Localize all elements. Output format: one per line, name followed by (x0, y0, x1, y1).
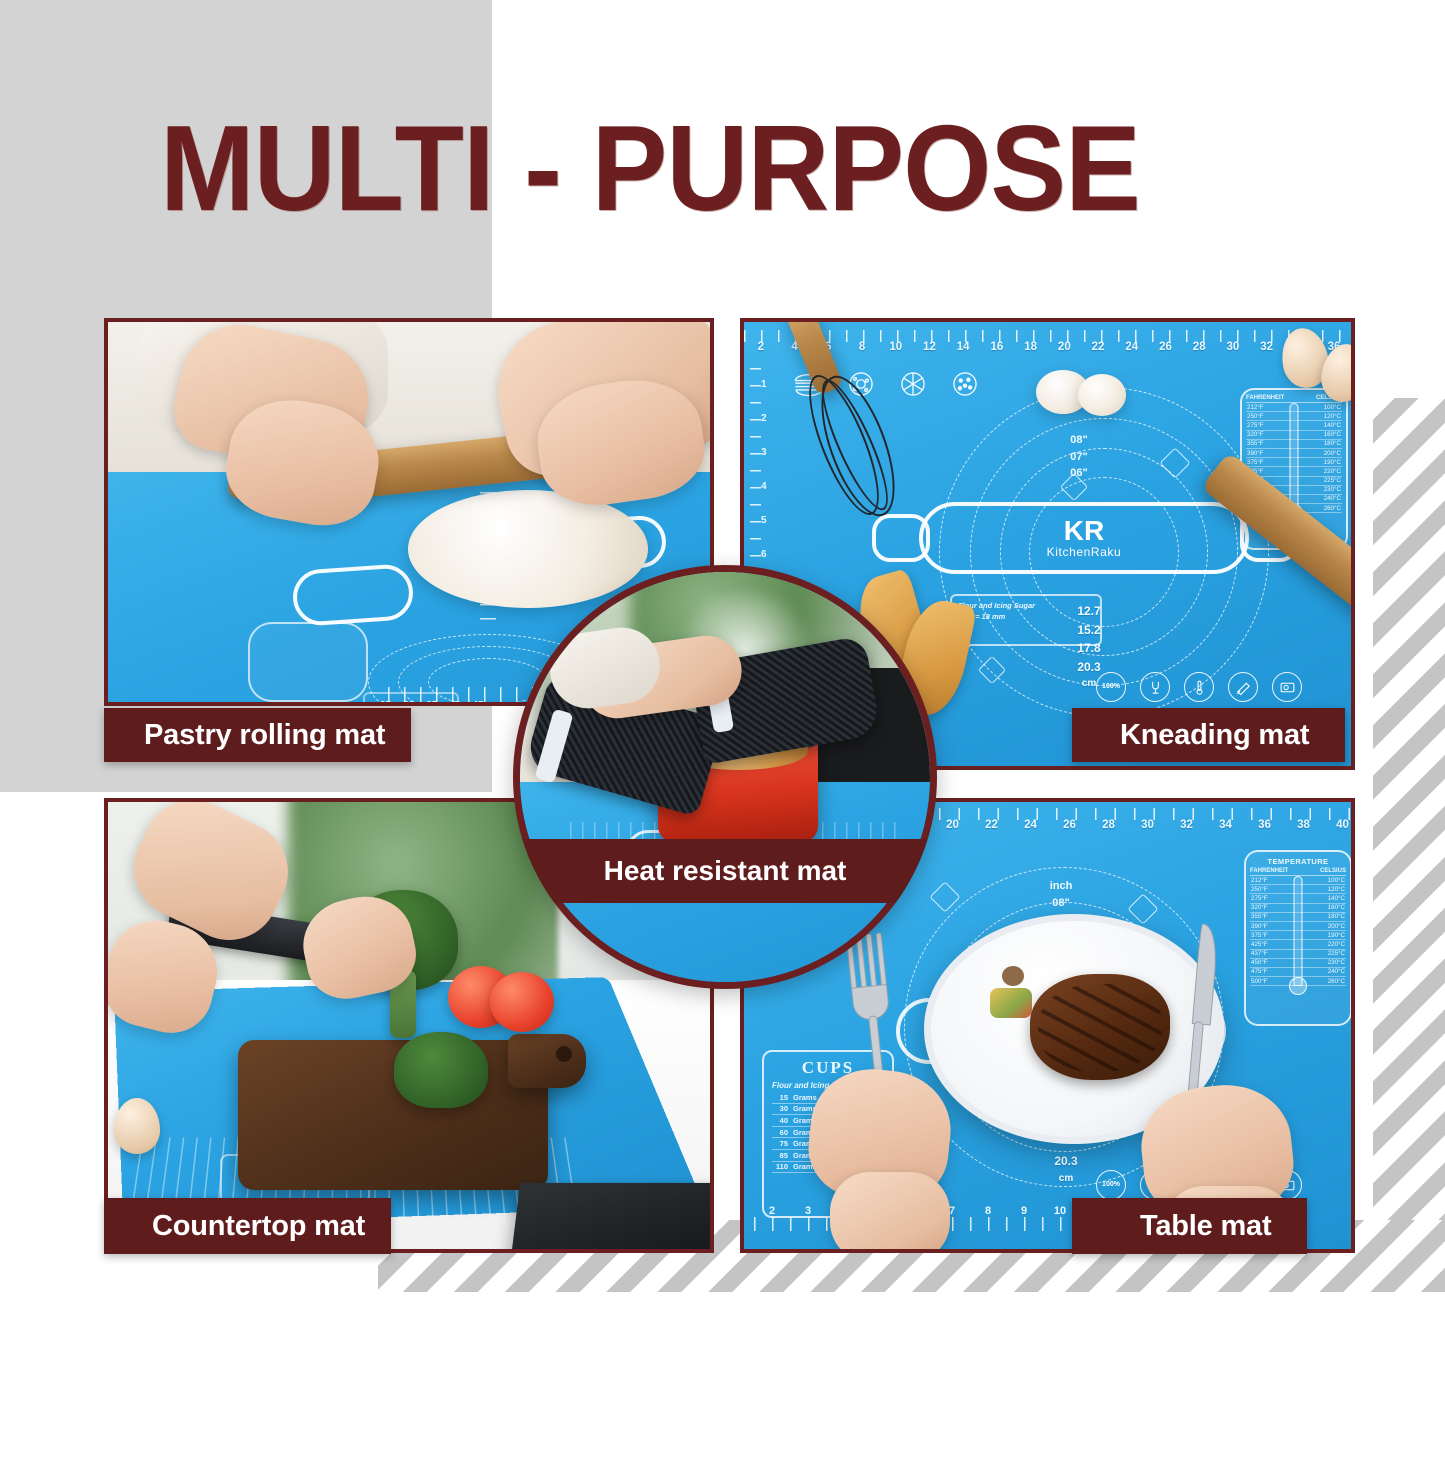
badge-dishwasher-safe-icon (1140, 672, 1170, 702)
mat-rollingpin-knob-left (872, 514, 930, 562)
label-text: Countertop mat (152, 1210, 365, 1243)
egg-countertop (114, 1098, 160, 1154)
temp-col-celsius: CELSIUS (1320, 868, 1346, 874)
arm-left-br (830, 1172, 950, 1253)
badge-100-percent-silicone-icon: 100% (1096, 1170, 1126, 1200)
ruler-numbers-table: 18 20 22 24 26 28 30 32 34 36 38 40 (894, 819, 1355, 831)
label-kneading-mat: Kneading mat (1072, 708, 1345, 762)
badge-knife-safe-icon (1228, 672, 1258, 702)
plate-garnish (990, 988, 1032, 1018)
label-countertop-mat: Countertop mat (104, 1198, 391, 1254)
temp-table-body: 212°F100°C 250°F120°C 275°F140°C 320°F16… (1250, 876, 1346, 986)
badge-heat-resistant-icon (1184, 672, 1214, 702)
temp-col-fahrenheit: FAHRENHEIT (1246, 395, 1284, 401)
brand-logo-name: KitchenRaku (1047, 545, 1122, 559)
thermometer-bulb (1289, 977, 1307, 995)
decorative-stripes-right (1373, 398, 1445, 1288)
infographic-page: MULTI - PURPOSE 2530354045 (0, 0, 1445, 1459)
mat-inch-labels-table: inch 08" (1026, 878, 1096, 911)
mat-corner-mark-pastry (363, 692, 459, 706)
mat-circle-diameter-labels-table: 20.3 cm (1026, 1152, 1106, 1186)
steak-grill-marks (1038, 984, 1162, 1072)
label-text: Table mat (1140, 1210, 1271, 1243)
mat-ruler-top-kneading: 2 4 6 8 10 12 14 16 18 20 22 24 26 28 30… (744, 330, 1351, 360)
center-inset-heat-resistant (513, 565, 937, 989)
label-text: Pastry rolling mat (144, 719, 385, 752)
cutting-board-handle (508, 1034, 586, 1088)
broccoli-bottom (394, 1032, 488, 1108)
mat-inch-labels: 08" 07" 06" (1044, 432, 1114, 482)
mat-rollingpin-outline (291, 563, 415, 627)
scene-heat-resistant (520, 572, 930, 982)
badge-100-percent-silicone-icon: 100% (1096, 672, 1126, 702)
label-table-mat: Table mat (1072, 1198, 1307, 1254)
thermometer-stem (1294, 876, 1303, 986)
cutting-board-hole (556, 1046, 572, 1062)
mat-temperature-card-table: TEMPERATURE FAHRENHEIT CELSIUS 212°F100°… (1244, 850, 1352, 1026)
badge-microwave-safe-icon (1272, 672, 1302, 702)
plate-sauce-dot (1002, 966, 1024, 986)
label-text: Kneading mat (1120, 719, 1309, 752)
thermometer-stem (1290, 403, 1299, 513)
brand-logo-mark: KR (1064, 517, 1104, 545)
cutting-board (238, 1040, 548, 1190)
temp-col-fahrenheit: FAHRENHEIT (1250, 868, 1288, 874)
mat-feature-badges-kneading: 100% (1096, 672, 1302, 702)
induction-cooktop (511, 1183, 714, 1253)
dough-ball-2 (1078, 374, 1126, 416)
ruler-numbers: 2 4 6 8 10 12 14 16 18 20 22 24 26 28 30… (744, 341, 1351, 353)
label-pastry-rolling-mat: Pastry rolling mat (104, 708, 411, 762)
mat-temperature-card-pastry (248, 622, 368, 702)
page-title: MULTI - PURPOSE (46, 107, 1255, 229)
mat-rollingpin-outline-kneading: KR KitchenRaku (919, 502, 1249, 574)
temp-card-title: TEMPERATURE (1250, 857, 1346, 866)
